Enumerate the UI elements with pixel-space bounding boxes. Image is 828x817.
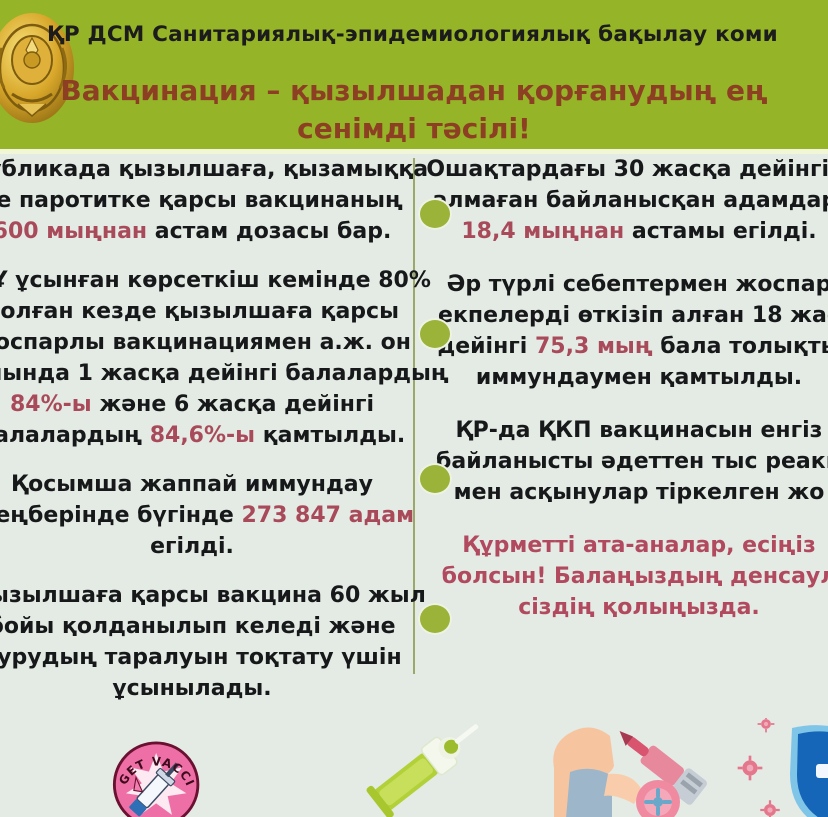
text-segment: бала толықты <box>660 334 828 359</box>
text-segment: айында 1 жасқа дейінгі балалардың <box>0 361 449 386</box>
highlighted-figure: 84%-ы <box>10 392 99 417</box>
paragraph: Қызылшаға қарсы вакцина 60 жылбойы қолда… <box>0 580 412 704</box>
paragraph-line: 600 мыңнан астам дозасы бар. <box>0 216 412 247</box>
text-segment: ұсынылады. <box>112 676 271 701</box>
text-segment: астам дозасы бар. <box>155 219 392 244</box>
text-segment: Әр түрлі себептермен жоспар <box>447 272 828 297</box>
paragraph: Әр түрлі себептермен жоспарекпелерді өтк… <box>424 269 828 393</box>
left-text-column: публикада қызылшаға, қызамыққане паротит… <box>0 154 412 722</box>
text-segment: сіздің қолыңызда. <box>518 595 760 620</box>
page-title-line-1: Вакцинация – қызылшадан қорғанудың ең <box>0 72 828 110</box>
highlighted-figure: 75,3 мың <box>535 334 660 359</box>
paragraph: ДҰ ұсынған көрсеткіш кемінде 80%болған к… <box>0 265 412 451</box>
text-segment: иммундаумен қамтылды. <box>476 365 802 390</box>
text-segment: жоспарлы вакцинациямен а.ж. он <box>0 330 411 355</box>
highlighted-figure: 273 847 адам <box>241 503 414 528</box>
paragraph-line: ДҰ ұсынған көрсеткіш кемінде 80% <box>0 265 412 296</box>
paragraph-line: сіздің қолыңызда. <box>424 592 828 623</box>
highlighted-figure: 600 мыңнан <box>0 219 155 244</box>
paragraph-line: Құрметті ата-аналар, есіңіз <box>424 530 828 561</box>
paragraph: ҚР-да ҚКП вакцинасын енгізбайланысты әде… <box>424 415 828 508</box>
poster-body: публикада қызылшаға, қызамыққане паротит… <box>0 154 828 817</box>
text-segment: шеңберінде бүгінде <box>0 503 241 528</box>
text-segment: ДҰ ұсынған көрсеткіш кемінде 80% <box>0 268 431 293</box>
text-segment: Ошақтардағы 30 жасқа дейінгі е <box>426 157 828 182</box>
text-segment: балалардың <box>0 423 150 448</box>
text-segment: дейінгі <box>437 334 535 359</box>
paragraph-line: Қосымша жаппай иммундау <box>0 469 412 500</box>
paragraph-line: жоспарлы вакцинациямен а.ж. он <box>0 327 412 358</box>
text-segment: мен асқынулар тіркелген жо <box>454 480 825 505</box>
highlighted-figure: 84,6%-ы <box>150 423 263 448</box>
bullet-marker <box>420 465 450 493</box>
paragraph-line: иммундаумен қамтылды. <box>424 362 828 393</box>
text-segment: публикада қызылшаға, қызамыққа <box>0 157 428 182</box>
paragraph-line: егілді. <box>0 531 412 562</box>
right-text-column: Ошақтардағы 30 жасқа дейінгі еалмаған ба… <box>424 154 828 645</box>
paragraph-line: шеңберінде бүгінде 273 847 адам <box>0 500 412 531</box>
paragraph: Қосымша жаппай иммундаушеңберінде бүгінд… <box>0 469 412 562</box>
text-segment: Қосымша жаппай иммундау <box>11 472 373 497</box>
bullet-marker <box>420 200 450 228</box>
paragraph-line: публикада қызылшаға, қызамыққа <box>0 154 412 185</box>
text-segment: екпелерді өткізіп алған 18 жас <box>438 303 828 328</box>
text-segment: егілді. <box>150 534 234 559</box>
paragraph-line: болған кезде қызылшаға қарсы <box>0 296 412 327</box>
page-title: Вакцинация – қызылшадан қорғанудың ең се… <box>0 72 828 148</box>
paragraph-line: екпелерді өткізіп алған 18 жас <box>424 300 828 331</box>
paragraph-line: ұсынылады. <box>0 673 412 704</box>
paragraph-line: байланысты әдеттен тыс реакц <box>424 446 828 477</box>
text-segment: қамтылды. <box>263 423 406 448</box>
paragraph-line: балалардың 84,6%-ы қамтылды. <box>0 420 412 451</box>
text-segment: Қызылшаға қарсы вакцина 60 жыл <box>0 583 426 608</box>
paragraph-line: бойы қолданылып келеді және <box>0 611 412 642</box>
text-segment: алмаған байланысқан адамдар, <box>433 188 828 213</box>
poster-header: ҚР ДСМ Санитариялық-эпидемиологиялық бақ… <box>0 0 828 152</box>
bullet-marker <box>420 320 450 348</box>
paragraph-line: болсын! Балаңыздың денсаул <box>424 561 828 592</box>
paragraph-line: не паротитке қарсы вакцинаның <box>0 185 412 216</box>
text-segment: және 6 жасқа дейінгі <box>99 392 374 417</box>
paragraph-line: Ошақтардағы 30 жасқа дейінгі е <box>424 154 828 185</box>
text-segment: болсын! Балаңыздың денсаул <box>442 564 828 589</box>
paragraph: Құрметті ата-аналар, есіңізболсын! Балаң… <box>424 530 828 623</box>
text-segment: бойы қолданылып келеді және <box>0 614 395 639</box>
organization-name: ҚР ДСМ Санитариялық-эпидемиологиялық бақ… <box>47 22 778 47</box>
paragraph-line: айында 1 жасқа дейінгі балалардың <box>0 358 412 389</box>
text-segment: аурудың таралуын тоқтату үшін <box>0 645 402 670</box>
paragraph-line: дейінгі 75,3 мың бала толықты <box>424 331 828 362</box>
highlighted-figure: 18,4 мыңнан <box>461 219 632 244</box>
text-segment: болған кезде қызылшаға қарсы <box>0 299 399 324</box>
bullet-marker <box>420 605 450 633</box>
page-title-line-2: сенімді тәсілі! <box>0 110 828 148</box>
text-segment: байланысты әдеттен тыс реакц <box>436 449 828 474</box>
paragraph-line: 18,4 мыңнан астамы егілді. <box>424 216 828 247</box>
text-segment: Құрметті ата-аналар, есіңіз <box>462 533 816 558</box>
paragraph-line: мен асқынулар тіркелген жо <box>424 477 828 508</box>
paragraph-line: Әр түрлі себептермен жоспар <box>424 269 828 300</box>
paragraph: Ошақтардағы 30 жасқа дейінгі еалмаған ба… <box>424 154 828 247</box>
paragraph-line: ҚР-да ҚКП вакцинасын енгіз <box>424 415 828 446</box>
paragraph: публикада қызылшаға, қызамыққане паротит… <box>0 154 412 247</box>
paragraph-line: алмаған байланысқан адамдар, <box>424 185 828 216</box>
paragraph-line: Қызылшаға қарсы вакцина 60 жыл <box>0 580 412 611</box>
text-segment: астамы егілді. <box>632 219 817 244</box>
text-segment: ҚР-да ҚКП вакцинасын енгіз <box>456 418 823 443</box>
paragraph-line: 84%-ы және 6 жасқа дейінгі <box>0 389 412 420</box>
text-segment: не паротитке қарсы вакцинаның <box>0 188 403 213</box>
paragraph-line: аурудың таралуын тоқтату үшін <box>0 642 412 673</box>
